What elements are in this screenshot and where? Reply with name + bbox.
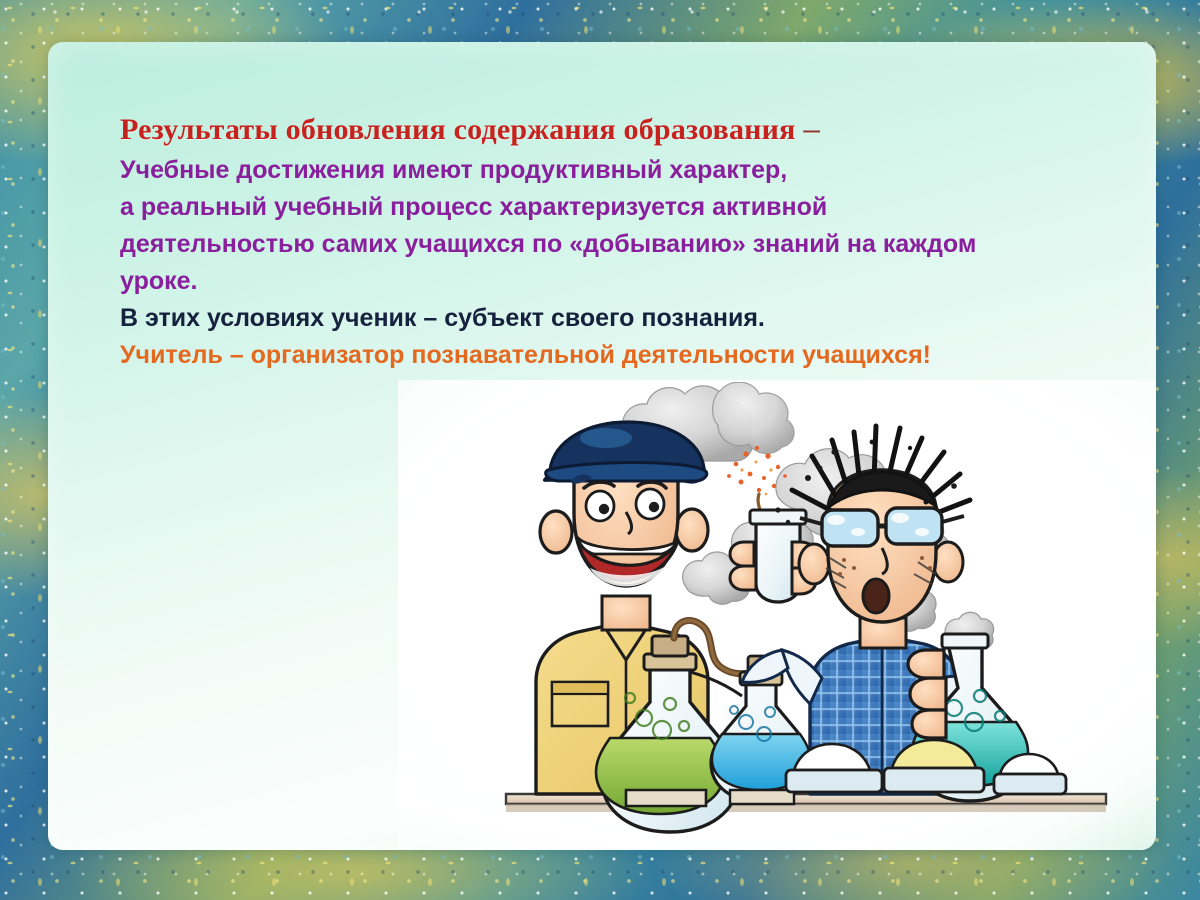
text-block: Результаты обновления содержания образов… [120, 110, 1130, 374]
slide-canvas: Результаты обновления содержания образов… [0, 0, 1200, 900]
page-title-dash: – [803, 113, 820, 146]
body-line-6: Учитель – организатор познавательной дея… [120, 337, 1130, 374]
body-line-1: Учебные достижения имеют продуктивный ха… [120, 152, 1130, 189]
lab-table [506, 794, 1106, 812]
page-title: Результаты обновления содержания образов… [120, 110, 1130, 150]
body-line-5: В этих условиях ученик – субъект своего … [120, 300, 1130, 337]
body-line-2: а реальный учебный процесс характеризует… [120, 189, 1130, 226]
content-panel: Результаты обновления содержания образов… [48, 42, 1156, 850]
chemistry-illustration [478, 382, 1118, 850]
page-title-text: Результаты обновления содержания образов… [120, 113, 796, 146]
body-line-3: деятельностью самих учащихся по «добыван… [120, 226, 1130, 263]
body-line-4: уроке. [120, 263, 1130, 300]
